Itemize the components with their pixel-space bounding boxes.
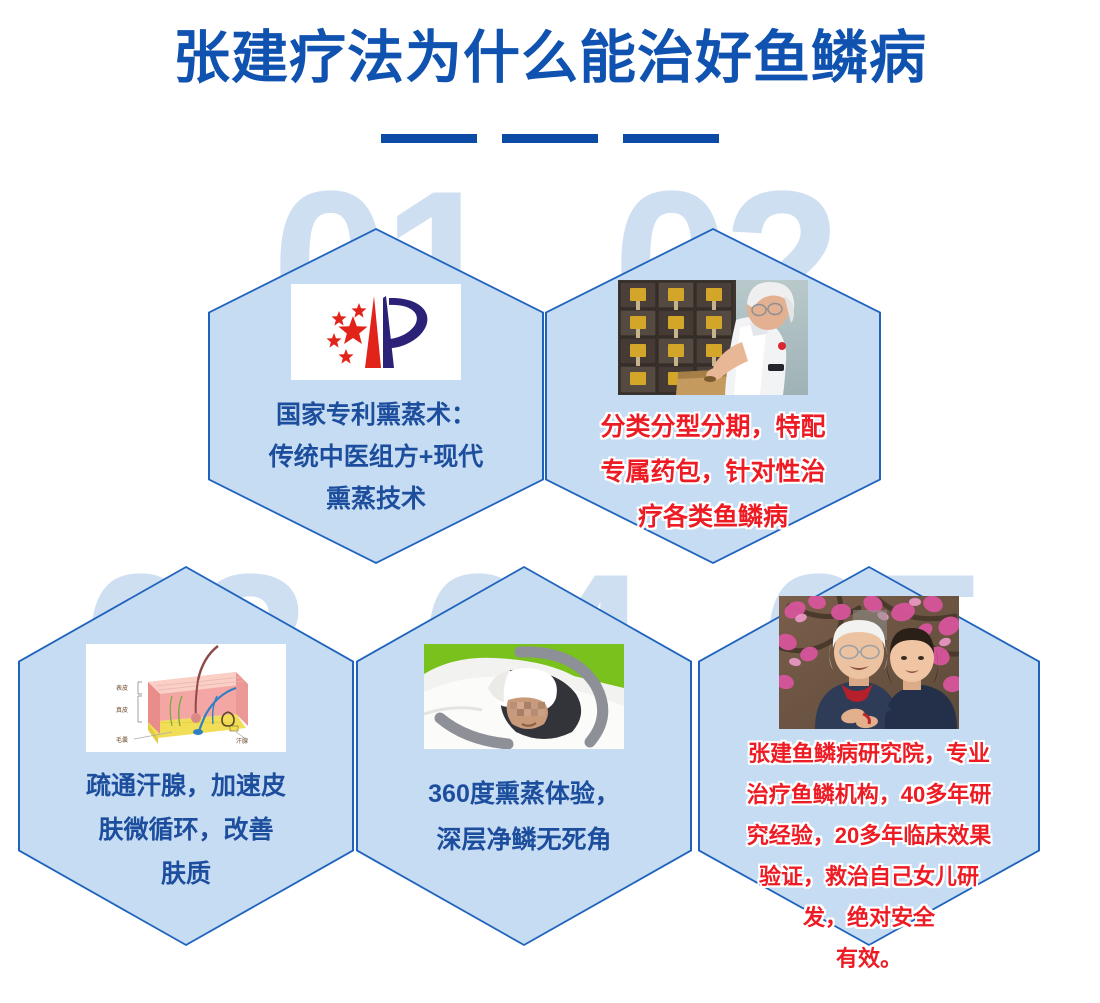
skin-label-epidermis: 表皮: [116, 684, 128, 692]
skin-label-follicle: 毛囊: [116, 736, 128, 744]
card-05[interactable]: 张建鱼鳞病研究院，专业 治疗鱼鳞机构，40多年研 究经验，20多年临床效果 验证…: [698, 566, 1040, 946]
card-03[interactable]: 表皮 真皮 毛囊 汗腺 疏通汗腺，加速皮 肤微循环，改善 肤质: [18, 566, 354, 946]
title-divider: [0, 134, 1100, 143]
patent-logo-icon: [291, 284, 461, 380]
tcm-pharmacist-photo: [618, 280, 808, 395]
card-01[interactable]: 国家专利熏蒸术： 传统中医组方+现代 熏蒸技术: [208, 228, 544, 564]
steam-therapy-photo-art: [424, 644, 624, 749]
card-02-caption: 分类分型分期，特配 专属药包，针对性治 疗各类鱼鳞病: [558, 405, 868, 540]
face-mosaic: [510, 702, 545, 716]
divider-dash-1: [381, 134, 477, 143]
national-patent-logo: [291, 284, 461, 380]
skin-cross-section-diagram: 表皮 真皮 毛囊 汗腺: [86, 644, 286, 752]
card-01-caption: 国家专利熏蒸术： 传统中医组方+现代 熏蒸技术: [226, 394, 526, 520]
founder-family-photo-art: [779, 596, 959, 729]
skin-label-dermis: 真皮: [116, 706, 128, 714]
poster-root: 张建疗法为什么能治好鱼鳞病 01 02 03 04 05: [0, 0, 1100, 1003]
card-04-caption: 360度熏蒸体验， 深层净鳞无死角: [374, 771, 674, 863]
page-title: 张建疗法为什么能治好鱼鳞病: [0, 22, 1100, 94]
steam-therapy-photo: [424, 644, 624, 749]
divider-dash-3: [623, 134, 719, 143]
skin-label-sweat-gland: 汗腺: [236, 737, 248, 745]
founder-family-photo: [779, 596, 959, 729]
card-04[interactable]: 360度熏蒸体验， 深层净鳞无死角: [356, 566, 692, 946]
tcm-pharmacist-photo-art: [618, 280, 808, 395]
divider-dash-2: [502, 134, 598, 143]
card-03-caption: 疏通汗腺，加速皮 肤微循环，改善 肤质: [36, 764, 336, 896]
skin-diagram-art: 表皮 真皮 毛囊 汗腺: [86, 644, 286, 752]
card-05-caption: 张建鱼鳞病研究院，专业 治疗鱼鳞机构，40多年研 究经验，20多年临床效果 验证…: [719, 733, 1019, 979]
card-02[interactable]: 分类分型分期，特配 专属药包，针对性治 疗各类鱼鳞病: [545, 228, 881, 564]
